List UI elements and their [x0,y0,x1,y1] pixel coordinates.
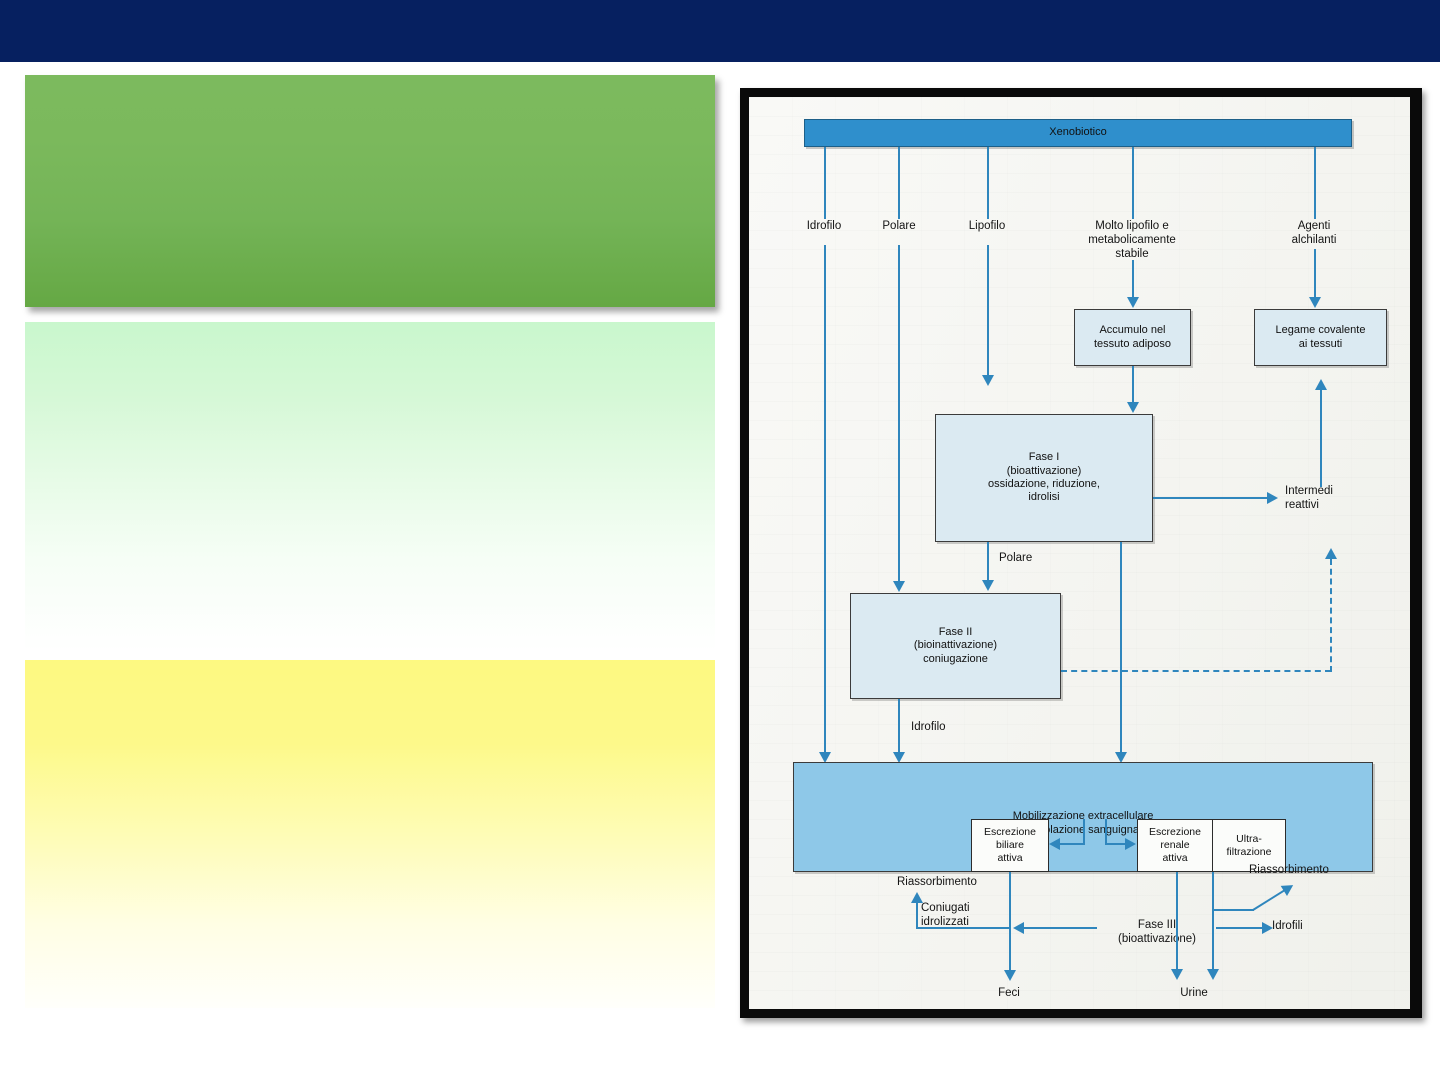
node-fase-ii: Fase II (bioinattivazione) coniugazione [850,593,1061,699]
arrow-lipofilo-into-fase-i [982,375,994,386]
connector-riassorbimento-right-horizontal [1212,909,1254,911]
node-ultrafiltrazione-line2: filtrazione [1227,846,1272,859]
branch-label-molto-lipofilo-line2: metabolicamente [1057,234,1207,248]
node-escrezione-biliare-line2: biliare [996,839,1024,852]
arrow-agenti-into-legame [1309,297,1321,308]
node-fase-i: Fase I (bioattivazione) ossidazione, rid… [935,414,1153,542]
branch-label-lipofilo: Lipofilo [937,220,1037,234]
node-fase-i-line3: ossidazione, riduzione, [988,478,1100,491]
node-escrezione-renale-line3: attiva [1162,852,1187,865]
node-legame-line2: ai tessuti [1299,338,1342,351]
arrow-dashed-feedback-up [1325,548,1337,559]
branch-label-agenti-line1: Agenti [1254,220,1374,234]
connector-riassorbimento-left-vertical [916,902,918,928]
edge-label-riassorbimento-right-text: Riassorbimento [1249,864,1329,876]
node-fase-i-line2: (bioattivazione) [1007,465,1082,478]
connector-escrezione-renale-down [1176,872,1178,970]
connector-agenti-stem-bottom [1314,249,1316,298]
connector-band-elbow-left-vertical [1083,819,1085,845]
node-escrezione-biliare-line3: attiva [997,852,1022,865]
connector-band-elbow-left-horizontal [1060,843,1085,845]
connector-lipofilo-stem-bottom [987,245,989,376]
edge-label-intermedi-reattivi: Intermedi reattivi [1285,485,1395,513]
connector-molto-lipofilo-stem-bottom [1132,260,1134,298]
connector-band-elbow-right-horizontal [1105,843,1126,845]
connector-lipofilo-stem-top [987,147,989,219]
edge-label-urine: Urine [1162,987,1226,1001]
edge-label-fase-iii: Fase III (bioattivazione) [1099,919,1215,947]
branch-label-lipofilo-text: Lipofilo [969,220,1005,232]
arrow-molto-lipofilo-into-accumulo [1127,297,1139,308]
edge-label-urine-text: Urine [1180,987,1207,999]
edge-label-riassorbimento-left: Riassorbimento [897,876,977,890]
arrow-polare-into-fase-ii [893,581,905,592]
node-escrezione-renale-line2: renale [1160,839,1189,852]
edge-label-fase-iii-line1: Fase III [1099,919,1215,933]
node-fase-ii-line1: Fase II [939,626,973,639]
arrow-ultrafiltrazione-to-urine [1207,969,1219,980]
branch-label-molto-lipofilo-line3: stabile [1057,248,1207,262]
connector-fase-i-to-fase-ii [987,542,989,581]
node-accumulo-line1: Accumulo nel [1099,324,1165,337]
connector-intermedi-to-legame [1320,390,1322,487]
branch-label-idrofilo-text: Idrofilo [807,220,842,232]
edge-label-coniugati-idrolizzati: Coniugati idrolizzati [921,902,1007,930]
connector-dashed-fase-ii-feedback-vertical [1330,559,1332,672]
node-accumulo-tessuto-adiposo: Accumulo nel tessuto adiposo [1074,309,1191,366]
connector-riassorbimento-right-diagonal [1252,888,1286,910]
edge-label-riassorbimento-right: Riassorbimento [1249,864,1329,878]
edge-label-feci-text: Feci [998,987,1020,999]
branch-label-agenti-alchilanti: Agenti alchilanti [1254,220,1374,248]
node-legame-line1: Legame covalente [1276,324,1366,337]
edge-label-fase-iii-line2: (bioattivazione) [1099,933,1215,947]
connector-biliare-to-feci [1009,872,1011,971]
node-escrezione-biliare-attiva: Escrezione biliare attiva [971,819,1049,872]
arrow-into-escrezione-renale [1125,838,1136,850]
arrow-into-escrezione-biliare [1049,838,1060,850]
connector-fase-i-to-intermedi [1153,497,1268,499]
arrow-fase-i-to-fase-ii [982,580,994,591]
branch-label-molto-lipofilo-line1: Molto lipofilo e [1057,220,1207,234]
branch-label-molto-lipofilo: Molto lipofilo e metabolicamente stabile [1057,220,1207,261]
content-panel-yellow [25,660,715,1008]
arrow-riassorbimento-right [1281,880,1297,896]
node-escrezione-biliare-line1: Escrezione [984,826,1036,839]
branch-label-polare-text: Polare [882,220,915,232]
node-escrezione-renale-attiva: Escrezione renale attiva [1137,819,1213,872]
connector-band-elbow-right-vertical [1105,819,1107,845]
diagram-paper: Xenobiotico Idrofilo Polare Lipofi [749,97,1410,1009]
edge-label-idrofilo-mid: Idrofilo [911,721,946,735]
slide-header-band [0,0,1440,62]
edge-label-riassorbimento-left-text: Riassorbimento [897,876,977,888]
arrow-renale-to-urine [1171,969,1183,980]
edge-label-coniugati-line1: Coniugati [921,902,1007,916]
edge-label-idrofilo-mid-text: Idrofilo [911,721,946,733]
node-mobilizzazione-extracellulare: Mobilizzazione extracellulare circolazio… [793,762,1373,872]
node-fase-i-line1: Fase I [1029,451,1060,464]
connector-molto-lipofilo-stem-top [1132,147,1134,219]
connector-idrofilo-stem-bottom [824,245,826,753]
node-fase-ii-line2: (bioinattivazione) [914,639,997,652]
edge-label-polare-mid-text: Polare [999,552,1032,564]
arrow-accumulo-to-fase-i [1127,402,1139,413]
node-escrezione-renale-line1: Escrezione [1149,826,1201,839]
connector-fase-i-right-to-mobilizzazione [1120,542,1122,753]
arrow-biliare-to-feci [1004,970,1016,981]
node-ultrafiltrazione-line1: Ultra- [1236,833,1262,846]
node-legame-covalente: Legame covalente ai tessuti [1254,309,1387,366]
edge-label-coniugati-line2: idrolizzati [921,916,1007,930]
connector-idrofilo-stem-top [824,147,826,219]
arrow-intermedi-to-legame [1315,379,1327,390]
connector-ultrafiltrazione-down [1212,872,1214,970]
arrow-fase-iii-left [1013,922,1024,934]
connector-agenti-stem-top [1314,147,1316,219]
node-xenobiotico-label: Xenobiotico [1049,126,1107,139]
diagram-figure-frame: Xenobiotico Idrofilo Polare Lipofi [740,88,1422,1018]
node-xenobiotico: Xenobiotico [804,119,1352,147]
edge-label-idrofili: Idrofili [1272,920,1303,934]
branch-label-polare: Polare [849,220,949,234]
node-accumulo-line2: tessuto adiposo [1094,338,1171,351]
connector-accumulo-to-fase-i [1132,366,1134,403]
edge-label-polare-mid: Polare [999,552,1032,566]
arrow-fase-i-to-intermedi [1267,492,1278,504]
connector-polare-stem-bottom [898,245,900,582]
content-panel-green [25,75,715,307]
connector-fase-iii-to-left [1024,927,1097,929]
node-fase-i-line4: idrolisi [1028,491,1059,504]
content-panel-light-green [25,322,715,652]
branch-label-agenti-line2: alchilanti [1254,234,1374,248]
connector-fase-iii-to-right [1216,927,1263,929]
edge-label-intermedi-line1: Intermedi [1285,485,1395,499]
connector-fase-ii-to-mobilizzazione [898,699,900,753]
node-fase-ii-line3: coniugazione [923,653,988,666]
edge-label-intermedi-line2: reattivi [1285,499,1395,513]
edge-label-feci: Feci [977,987,1041,1001]
edge-label-idrofili-text: Idrofili [1272,920,1303,932]
connector-polare-stem-top [898,147,900,219]
connector-dashed-fase-ii-feedback-horizontal [1061,670,1331,672]
